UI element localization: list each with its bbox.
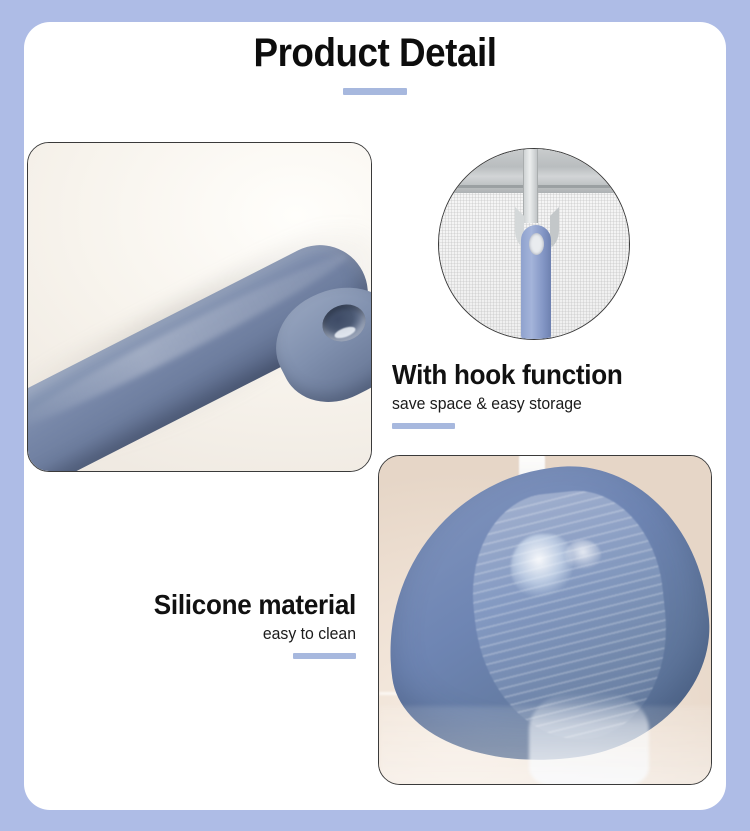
feature-hook-accent-bar xyxy=(392,423,455,429)
feature-silicone-subtitle: easy to clean xyxy=(77,624,356,644)
water-splash-highlight-secondary xyxy=(565,540,601,570)
hanging-tool-hole xyxy=(529,233,544,255)
photo-hook xyxy=(438,148,630,340)
feature-hook: With hook function save space & easy sto… xyxy=(392,360,692,429)
feature-silicone: Silicone material easy to clean xyxy=(56,590,356,659)
water-pool xyxy=(379,706,712,785)
page-header: Product Detail xyxy=(0,32,750,95)
feature-hook-title: With hook function xyxy=(392,360,671,391)
page-title: Product Detail xyxy=(30,32,720,74)
product-detail-page: Product Detail With hook function xyxy=(0,0,750,831)
feature-silicone-accent-bar xyxy=(293,653,356,659)
title-accent-bar xyxy=(343,88,407,95)
photo-handle xyxy=(27,142,372,472)
feature-silicone-title: Silicone material xyxy=(77,590,356,621)
feature-hook-subtitle: save space & easy storage xyxy=(392,394,671,414)
photo-water-rinse xyxy=(378,455,712,785)
